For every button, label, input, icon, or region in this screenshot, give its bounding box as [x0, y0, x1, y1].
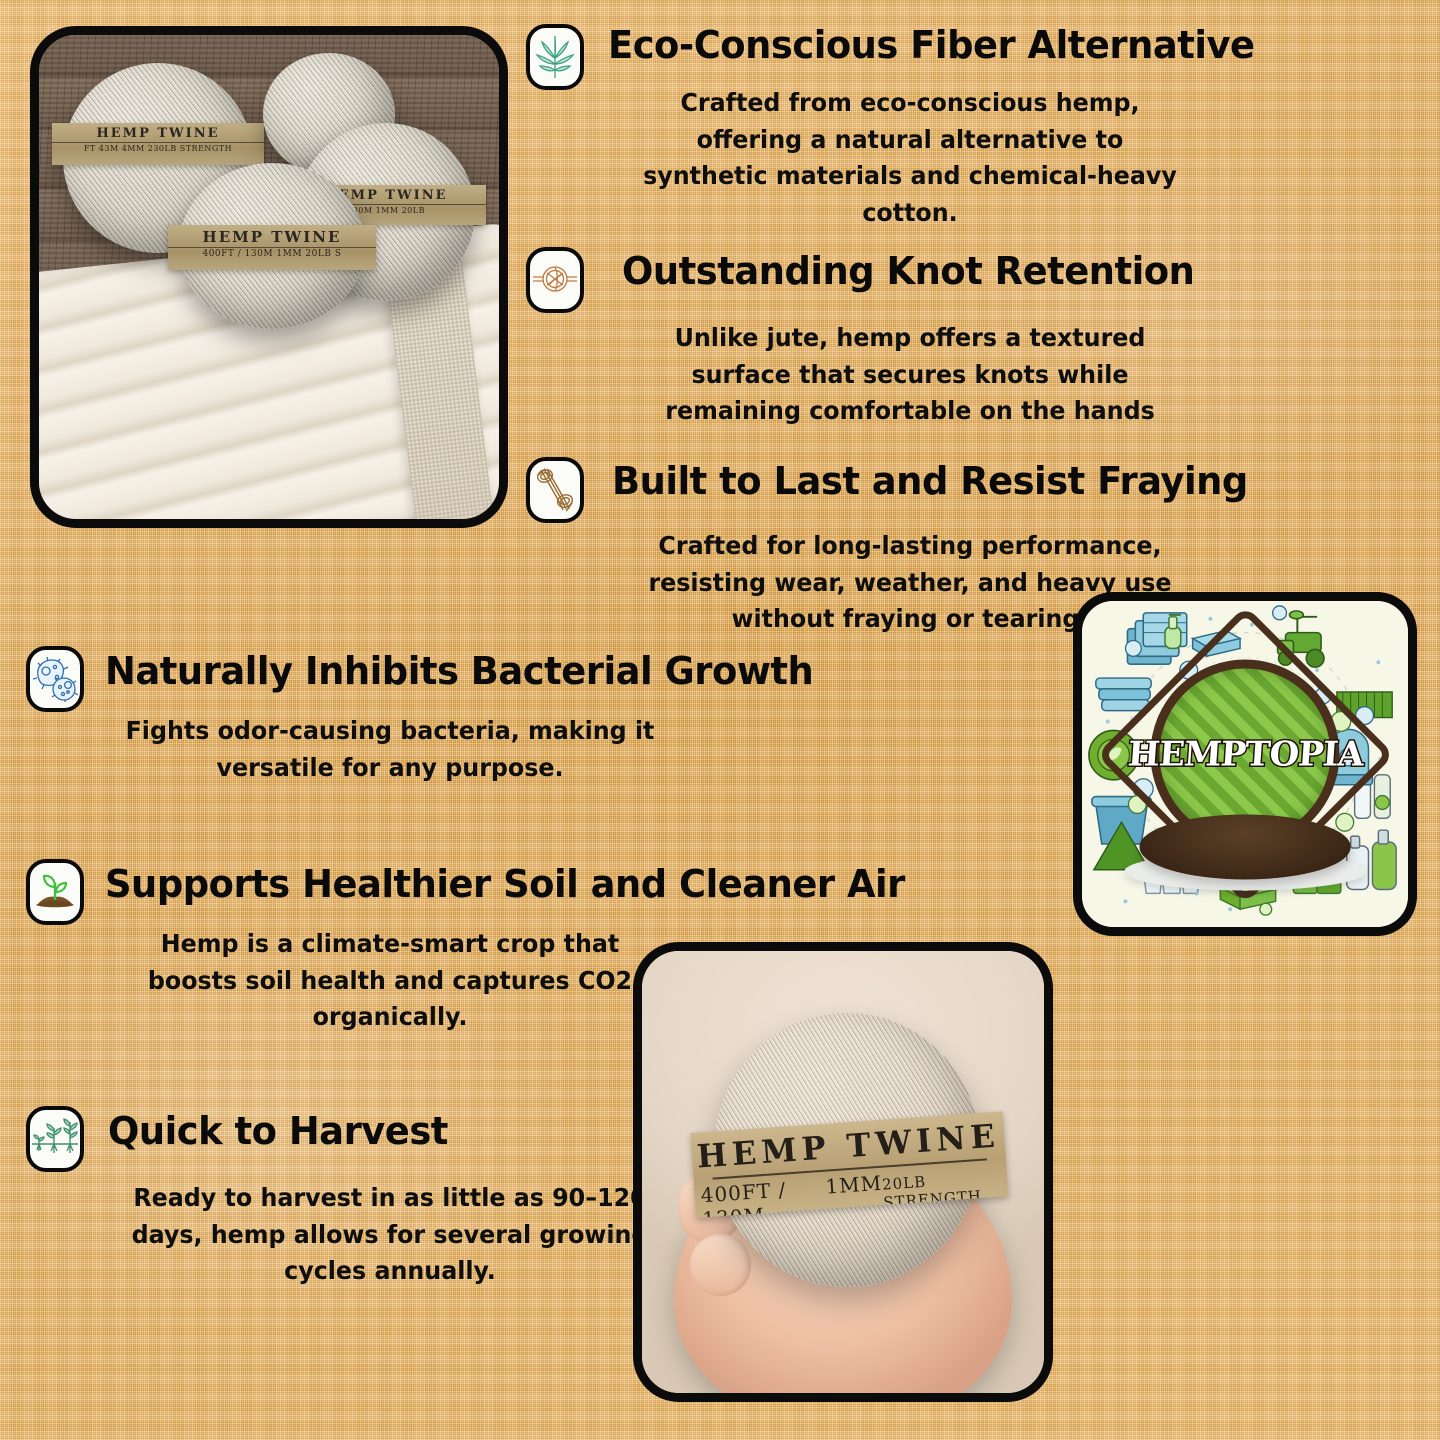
- infographic-canvas: HEMP TWINE FT 43M 4MM 230LB STRENGTH HEM…: [0, 0, 1440, 1440]
- badge-seedling-soil: [26, 859, 84, 925]
- twine-band-spec: FT 43M 4MM 230LB STRENGTH: [52, 142, 265, 153]
- hand-finger: [690, 1234, 750, 1296]
- badge-bacteria: [26, 646, 84, 712]
- feature-title-2: Outstanding Knot Retention: [622, 252, 1194, 290]
- twine-balls-photo: HEMP TWINE FT 43M 4MM 230LB STRENGTH HEM…: [39, 35, 499, 519]
- twine-band-label: HEMP TWINE 400FT / 130M 1MM 20LB S: [168, 225, 376, 270]
- soil-mound: [1139, 815, 1351, 879]
- badge-knotted-rope: [526, 457, 584, 523]
- twine-label-length: 400FT / 130M: [700, 1175, 828, 1218]
- feature-body-2: Unlike jute, hemp offers a textured surf…: [616, 320, 1205, 430]
- feature-title-6: Quick to Harvest: [108, 1112, 448, 1150]
- seedling-soil-icon: [32, 870, 78, 914]
- twine-label-diameter: 1MM: [825, 1171, 883, 1199]
- feature-body-line: surface that secures knots while: [616, 357, 1205, 394]
- feature-body-line: offering a natural alternative to: [616, 122, 1205, 159]
- feature-body-line: Ready to harvest in as little as 90–120: [96, 1180, 685, 1217]
- feature-body-line: synthetic materials and chemical-heavy: [616, 158, 1205, 195]
- twine-band-title: HEMP TWINE: [52, 127, 265, 140]
- feature-body-1: Crafted from eco-conscious hemp, offerin…: [616, 85, 1205, 231]
- feature-body-5: Hemp is a climate-smart crop that boosts…: [96, 926, 685, 1036]
- photo-card-twine-balls: HEMP TWINE FT 43M 4MM 230LB STRENGTH HEM…: [30, 26, 508, 528]
- hemp-leaf-icon: [535, 34, 575, 80]
- feature-body-line: Hemp is a climate-smart crop that: [96, 926, 685, 963]
- twine-ball-front: HEMP TWINE 400FT / 130M 1MM 20LB S: [179, 163, 365, 329]
- badge-rope-knot: [526, 247, 584, 313]
- feature-body-line: Crafted for long-lasting performance,: [616, 528, 1205, 565]
- feature-body-line: cycles annually.: [96, 1253, 685, 1290]
- feature-title-4: Naturally Inhibits Bacterial Growth: [105, 652, 813, 690]
- feature-body-line: versatile for any purpose.: [96, 750, 685, 787]
- twine-ball-in-hand: HEMP TWINE 400FT / 130M 1MM 20LB STRENGT…: [714, 1013, 979, 1287]
- feature-body-line: boosts soil health and captures CO2: [96, 963, 685, 1000]
- feature-body-line: Crafted from eco-conscious hemp,: [616, 85, 1205, 122]
- feature-body-line: organically.: [96, 999, 685, 1036]
- feature-body-line: days, hemp allows for several growing: [96, 1217, 685, 1254]
- feature-body-6: Ready to harvest in as little as 90–120 …: [96, 1180, 685, 1290]
- feature-title-1: Eco-Conscious Fiber Alternative: [608, 26, 1255, 64]
- growing-plants-icon: [31, 1117, 79, 1161]
- twine-label-band: HEMP TWINE 400FT / 130M 1MM 20LB STRENGT…: [691, 1112, 1009, 1219]
- feature-body-line: Fights odor-causing bacteria, making it: [96, 713, 685, 750]
- hand-twine-photo: HEMP TWINE 400FT / 130M 1MM 20LB STRENGT…: [642, 951, 1044, 1393]
- badge-growing-plants: [26, 1106, 84, 1172]
- feature-body-4: Fights odor-causing bacteria, making it …: [96, 713, 685, 786]
- rope-knot-icon: [533, 260, 577, 300]
- brand-logo-illustration: HEMPTOPIA: [1082, 601, 1408, 927]
- feature-title-5: Supports Healthier Soil and Cleaner Air: [105, 865, 905, 903]
- feature-title-3: Built to Last and Resist Fraying: [612, 462, 1248, 500]
- photo-card-brand-logo: HEMPTOPIA: [1073, 592, 1417, 936]
- brand-logo-emblem: HEMPTOPIA: [1150, 660, 1339, 849]
- feature-body-line: cotton.: [616, 195, 1205, 232]
- twine-band-title: HEMP TWINE: [168, 230, 376, 245]
- feature-body-line: remaining comfortable on the hands: [616, 393, 1205, 430]
- twine-band-spec: 400FT / 130M 1MM 20LB S: [168, 247, 376, 259]
- bacteria-icon: [32, 656, 78, 702]
- knotted-rope-icon: [534, 467, 576, 513]
- badge-hemp-leaf: [526, 24, 584, 90]
- twine-band-label: HEMP TWINE FT 43M 4MM 230LB STRENGTH: [52, 123, 265, 165]
- feature-body-line: Unlike jute, hemp offers a textured: [616, 320, 1205, 357]
- brand-wordmark: HEMPTOPIA: [1126, 734, 1364, 774]
- photo-card-hand-holding-twine: HEMP TWINE 400FT / 130M 1MM 20LB STRENGT…: [633, 942, 1053, 1402]
